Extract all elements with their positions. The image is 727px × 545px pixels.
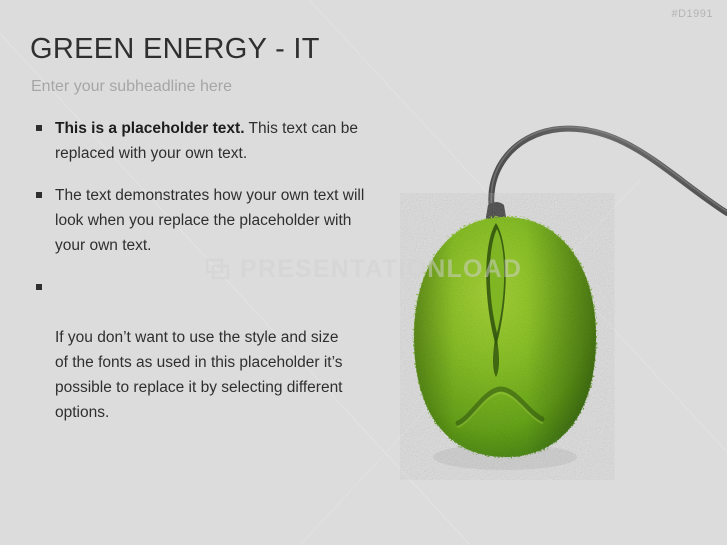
grass-mouse-illustration (400, 105, 727, 480)
bullet-body-text: If you don’t want to use the style and s… (55, 329, 343, 421)
square-bullet-icon (36, 284, 42, 290)
page-subheadline: Enter your subheadline here (31, 78, 232, 96)
bullet-lead-text: This is a placeholder text. (55, 120, 245, 137)
bullet-body-text: The text demonstrates how your own text … (55, 187, 364, 254)
square-bullet-icon (36, 125, 42, 131)
list-item: The text demonstrates how your own text … (30, 183, 375, 258)
list-item: If you don’t want to use the style and s… (30, 275, 375, 425)
list-item: This is a placeholder text. This text ca… (30, 116, 375, 166)
square-bullet-icon (36, 192, 42, 198)
slide-reference-code: #D1991 (671, 8, 713, 20)
page-title: GREEN ENERGY - IT (30, 33, 320, 66)
mouse-cable (491, 129, 727, 223)
bullet-list: This is a placeholder text. This text ca… (30, 116, 375, 425)
mouse-body-shading (414, 217, 596, 457)
slide-canvas: #D1991 GREEN ENERGY - IT Enter your subh… (0, 0, 727, 545)
